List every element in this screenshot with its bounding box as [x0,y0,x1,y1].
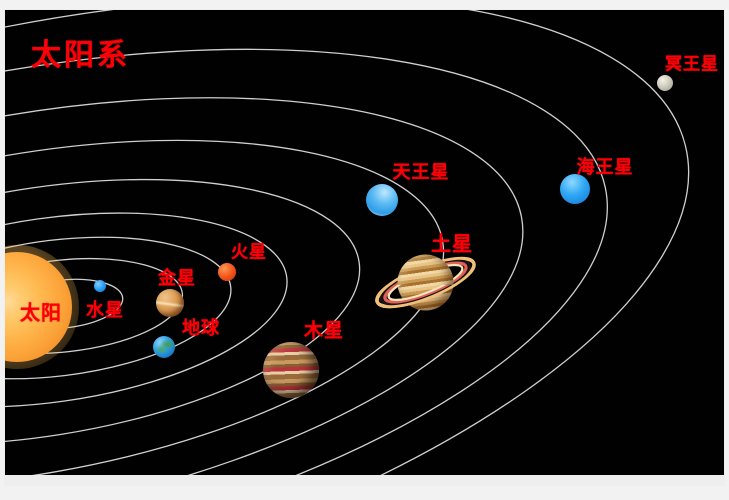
label-earth: 地球 [182,314,220,340]
label-venus: 金星 [158,264,196,290]
page-title: 太阳系 [31,30,130,74]
orbit-pluto [5,10,724,475]
planet-earth [153,336,175,358]
label-uranus: 天王星 [393,158,450,184]
sky-canvas: 太阳水星金星地球火星木星土星天王星海王星冥王星 太阳系 [5,10,724,475]
planet-jupiter [263,342,319,398]
planet-pluto [657,75,673,91]
orbit-paths [5,10,724,475]
planet-saturn [426,283,427,284]
label-mercury: 水星 [86,296,124,322]
planet-venus [156,289,184,317]
label-pluto: 冥王星 [665,50,719,75]
planet-mercury [94,280,106,292]
solar-system-diagram: 太阳水星金星地球火星木星土星天王星海王星冥王星 太阳系 [0,0,729,500]
planet-uranus [366,184,398,216]
label-sun: 太阳 [20,297,62,326]
planet-mars [218,263,236,281]
label-mars: 火星 [231,238,267,263]
label-neptune: 海王星 [577,153,634,179]
label-jupiter: 木星 [304,316,344,343]
label-saturn: 土星 [431,228,473,257]
orbit-neptune [5,10,655,475]
